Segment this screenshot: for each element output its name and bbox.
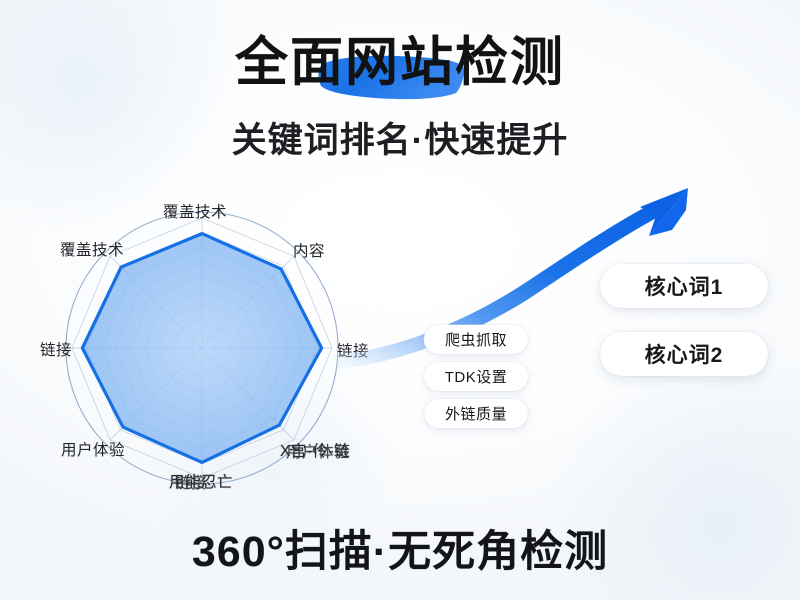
poster-canvas: 全面网站检测 关键词排名·快速提升 覆盖技术 内容 链接 用户体验 (0, 0, 800, 600)
radar-label-bottom-under: 链接 (175, 471, 207, 493)
radar-label-top: 覆盖技术 (163, 200, 227, 222)
feature-pill-links[interactable]: 外链质量 (424, 399, 528, 428)
radar-series-polygon (82, 234, 321, 463)
keyword-pill-1[interactable]: 核心词1 (600, 264, 768, 308)
radar-label-bottom-left: 用户体验 (61, 438, 125, 460)
page-title-post: 检测 (455, 33, 565, 92)
keyword-pill-2[interactable]: 核心词2 (600, 332, 768, 376)
radar-label-bottom-right: 用户体验 X宫-伶-链 (280, 439, 350, 461)
page-title: 全面网站检测 (0, 32, 800, 94)
radar-label-bottom: 链接 用能忍亡 (169, 470, 233, 492)
radar-label-left: 链接 (40, 338, 72, 360)
radar-label-top-left: 覆盖技术 (60, 238, 124, 260)
feature-pill-tdk[interactable]: TDK设置 (424, 362, 528, 391)
page-title-pre: 全面 (235, 33, 345, 92)
feature-pill-crawl[interactable]: 爬虫抓取 (424, 325, 528, 354)
page-title-highlight: 网站 (345, 33, 455, 92)
page-footer-tagline: 360°扫描·无死角检测 (0, 524, 800, 580)
radar-label-bottom-right-under: 用户体验 (286, 440, 350, 462)
page-subtitle: 关键词排名·快速提升 (0, 118, 800, 164)
